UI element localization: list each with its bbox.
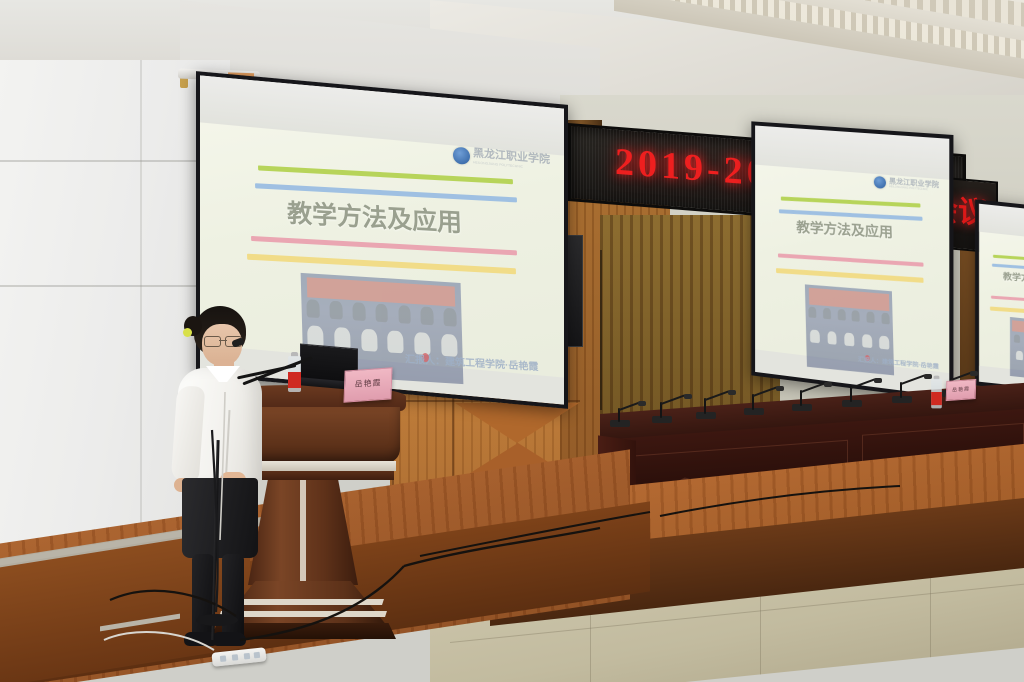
tertiary-projection-screen: 教学方法及应用	[975, 199, 1024, 398]
podium-nameplate: 岳艳霞	[343, 367, 392, 403]
shoe	[212, 632, 246, 646]
hair-clip	[183, 328, 192, 337]
lectern-column-stripe	[300, 480, 306, 585]
secondary-projection-screen: 黑龙江职业学院 HEILONGJIANG POLYTECHNIC 教学方法及应用…	[751, 121, 953, 401]
bottle-label	[288, 372, 301, 388]
water-bottle	[288, 352, 301, 392]
slide-group-photo	[1010, 317, 1024, 382]
speaker-at-podium	[168, 300, 278, 640]
microphone-stand-base	[196, 614, 238, 626]
water-bottle	[931, 376, 942, 409]
wall-shadow	[600, 250, 602, 410]
nameplate-text: 岳艳霞	[947, 385, 975, 394]
leg	[222, 554, 244, 640]
nameplate-text: 岳艳霞	[345, 376, 391, 390]
leg	[192, 554, 214, 640]
bowtie-inlay-top	[455, 403, 579, 443]
conference-hall-photo: 2019-2020 会议 黑龙江职业学院 HEILONGJIANG POLYTE…	[0, 0, 1024, 682]
black-skirt	[182, 478, 258, 558]
table-nameplate: 岳艳霞	[946, 379, 977, 401]
